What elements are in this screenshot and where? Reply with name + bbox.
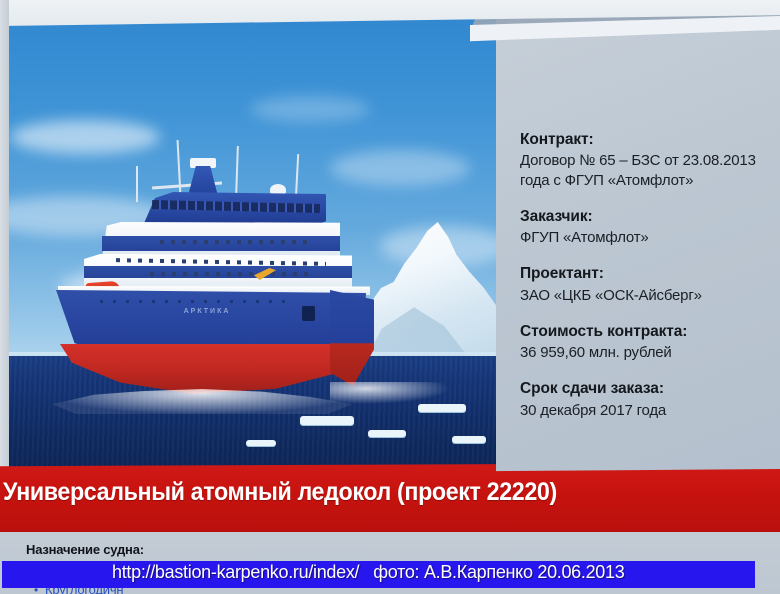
- info-label: Стоимость контракта:: [520, 322, 774, 341]
- info-field-cost: Стоимость контракта: 36 959,60 млн. рубл…: [520, 322, 774, 363]
- ice-floe: [300, 416, 354, 425]
- info-field-designer: Проектант: ЗАО «ЦКБ «ОСК-Айсберг»: [520, 264, 774, 305]
- porthole-row: [160, 240, 310, 244]
- bow-wave-secondary: [330, 382, 450, 404]
- mast: [235, 146, 239, 196]
- contract-info-panel: Контракт: Договор № 65 – БЗС от 23.08.20…: [496, 22, 780, 474]
- hull-porthole-row: [100, 300, 290, 303]
- bow-stem: [330, 290, 374, 386]
- ice-floe: [452, 436, 486, 443]
- info-label: Срок сдачи заказа:: [520, 379, 774, 398]
- ice-floe: [246, 440, 276, 446]
- info-label: Проектант:: [520, 264, 774, 283]
- info-field-contract: Контракт: Договор № 65 – БЗС от 23.08.20…: [520, 130, 774, 190]
- info-value: ЗАО «ЦКБ «ОСК-Айсберг»: [520, 286, 774, 305]
- poster-photograph: АРКТИКА Контракт: Договор № 65 – БЗС от …: [0, 0, 780, 594]
- info-field-delivery: Срок сдачи заказа: 30 декабря 2017 года: [520, 379, 774, 420]
- ice-floe: [418, 404, 466, 412]
- mast: [136, 166, 138, 202]
- info-value: 30 декабря 2017 года: [520, 401, 774, 420]
- hull-red-underwater: [60, 344, 360, 396]
- info-label: Заказчик:: [520, 207, 774, 226]
- ice-floe: [368, 430, 406, 437]
- cloud: [250, 96, 370, 122]
- watermark-url: http://bastion-karpenko.ru/index/: [112, 562, 359, 582]
- porthole-row: [150, 272, 310, 276]
- funnel: [188, 166, 218, 196]
- watermark-credit: фото: А.В.Карпенко 20.06.2013: [373, 562, 624, 582]
- anchor: [302, 306, 315, 321]
- icebreaker-vessel: АРКТИКА: [40, 140, 380, 410]
- page-title: Универсальный атомный ледокол (проект 22…: [3, 478, 719, 507]
- info-field-customer: Заказчик: ФГУП «Атомфлот»: [520, 207, 774, 248]
- watermark-text: http://bastion-karpenko.ru/index/фото: А…: [112, 562, 772, 583]
- ship-name-text: АРКТИКА: [162, 308, 252, 315]
- info-label: Контракт:: [520, 130, 774, 149]
- mast: [295, 154, 299, 200]
- info-value: Договор № 65 – БЗС от 23.08.2013 года с …: [520, 151, 774, 189]
- icebreaker-photo: АРКТИКА: [0, 0, 496, 474]
- info-value: 36 959,60 млн. рублей: [520, 343, 774, 362]
- purpose-heading: Назначение судна:: [26, 542, 144, 557]
- info-value: ФГУП «Атомфлот»: [520, 228, 774, 247]
